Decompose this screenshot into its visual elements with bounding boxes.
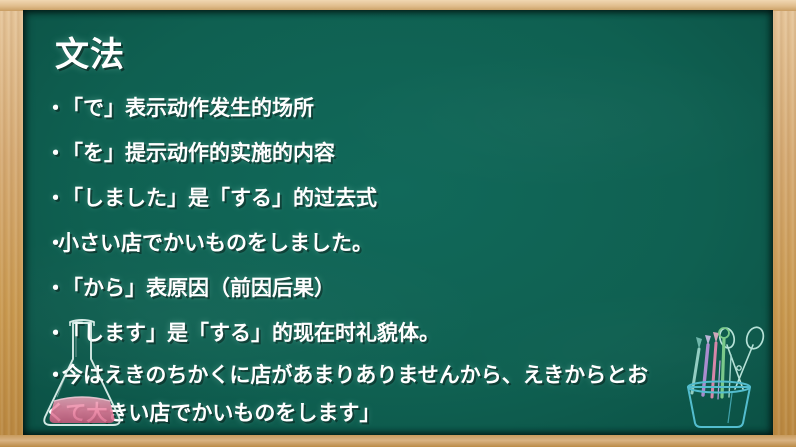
bullet-marker-icon: ・ xyxy=(45,311,62,356)
page-title: 文法 xyxy=(55,27,125,76)
list-item-first-line: ・ 今はえきのちかくに店があまりありませんから、えきからとお xyxy=(45,356,648,394)
list-item: ・ 「します」是「する」的现在时礼貌体。 xyxy=(45,311,763,356)
list-item-label: 「します」是「する」的现在时礼貌体。 xyxy=(62,311,440,356)
bullet-marker-icon: ・ xyxy=(45,356,62,394)
bullet-marker-icon: ・ xyxy=(45,266,62,311)
bullet-marker-icon: ・ xyxy=(45,176,62,221)
list-item-label: 「で」表示动作发生的场所 xyxy=(62,86,314,131)
list-item: ・ 小さい店でかいものをしました。 xyxy=(45,221,763,266)
bullet-marker-icon: ・ xyxy=(45,221,58,266)
list-item: ・ 「から」表原因（前因后果） xyxy=(45,266,763,311)
list-item: ・ 「しました」是「する」的过去式 xyxy=(45,176,763,221)
chalkboard-slide: 文法 ・ 「で」表示动作发生的场所 ・ 「を」提示动作的实施的内容 ・ 「しまし… xyxy=(0,0,796,447)
frame-bottom-edge xyxy=(0,435,796,447)
bullet-marker-icon: ・ xyxy=(45,86,62,131)
list-item-label-line2: くて大きい店でかいものをします」 xyxy=(45,394,380,432)
list-item-label: 「しました」是「する」的过去式 xyxy=(62,176,377,221)
list-item-label: 「から」表原因（前因后果） xyxy=(62,266,335,311)
list-item-label: 小さい店でかいものをしました。 xyxy=(58,221,373,266)
list-item: ・ 「で」表示动作发生的场所 xyxy=(45,86,763,131)
list-item-wrapped: ・ 今はえきのちかくに店があまりありませんから、えきからとお くて大きい店でかい… xyxy=(45,356,763,432)
chalkboard-surface: 文法 ・ 「で」表示动作发生的场所 ・ 「を」提示动作的实施的内容 ・ 「しまし… xyxy=(23,10,773,435)
list-item-label: 「を」提示动作的实施的内容 xyxy=(62,131,335,176)
bullet-marker-icon: ・ xyxy=(45,131,62,176)
list-item: ・ 「を」提示动作的实施的内容 xyxy=(45,131,763,176)
bullet-list: ・ 「で」表示动作发生的场所 ・ 「を」提示动作的实施的内容 ・ 「しました」是… xyxy=(45,86,763,432)
list-item-second-line: くて大きい店でかいものをします」 xyxy=(45,394,380,432)
list-item-label-line1: 今はえきのちかくに店があまりありませんから、えきからとお xyxy=(62,356,648,394)
